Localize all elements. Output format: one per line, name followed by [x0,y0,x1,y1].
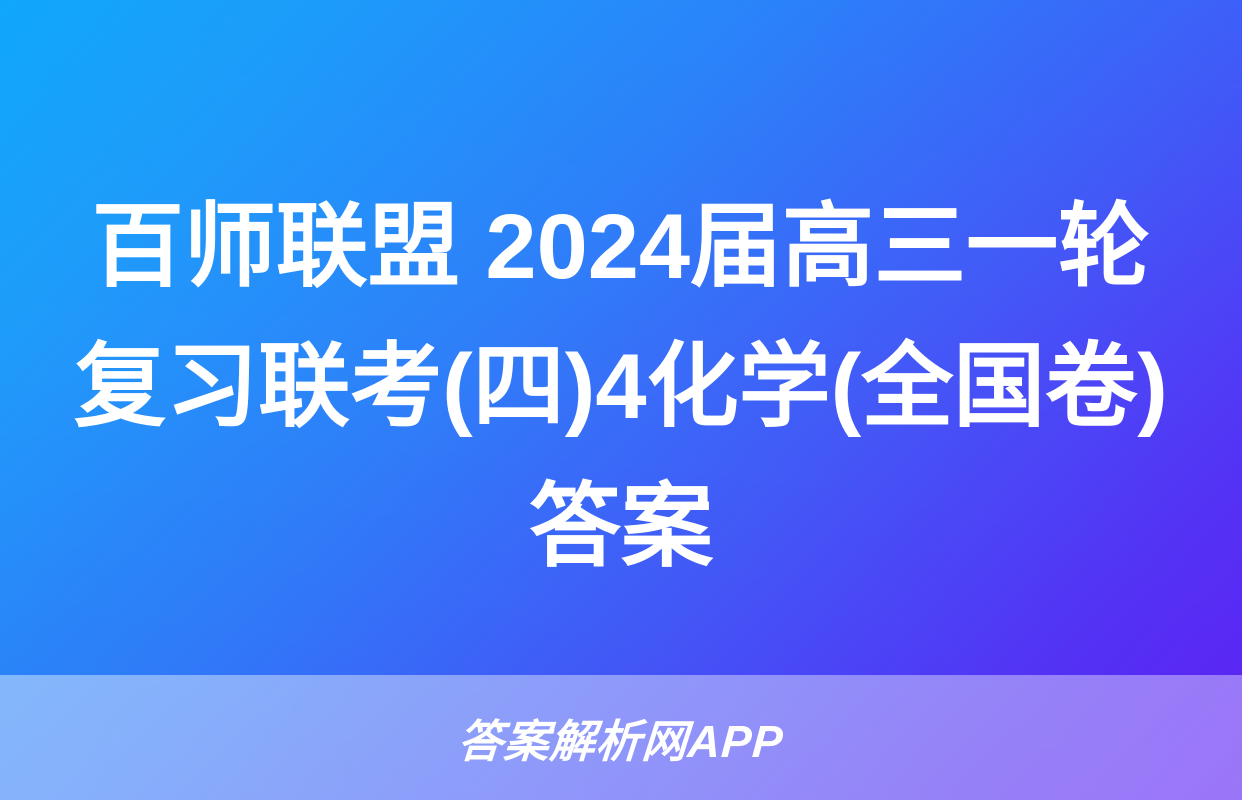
watermark-band: 答案解析网APP [0,675,1242,800]
answer-preview-card: 百师联盟 2024届高三一轮复习联考(四)4化学(全国卷)答案 答案解析网APP [0,0,1242,800]
watermark-label: 答案解析网APP [0,675,1242,800]
page-title: 百师联盟 2024届高三一轮复习联考(四)4化学(全国卷)答案 [0,178,1242,597]
